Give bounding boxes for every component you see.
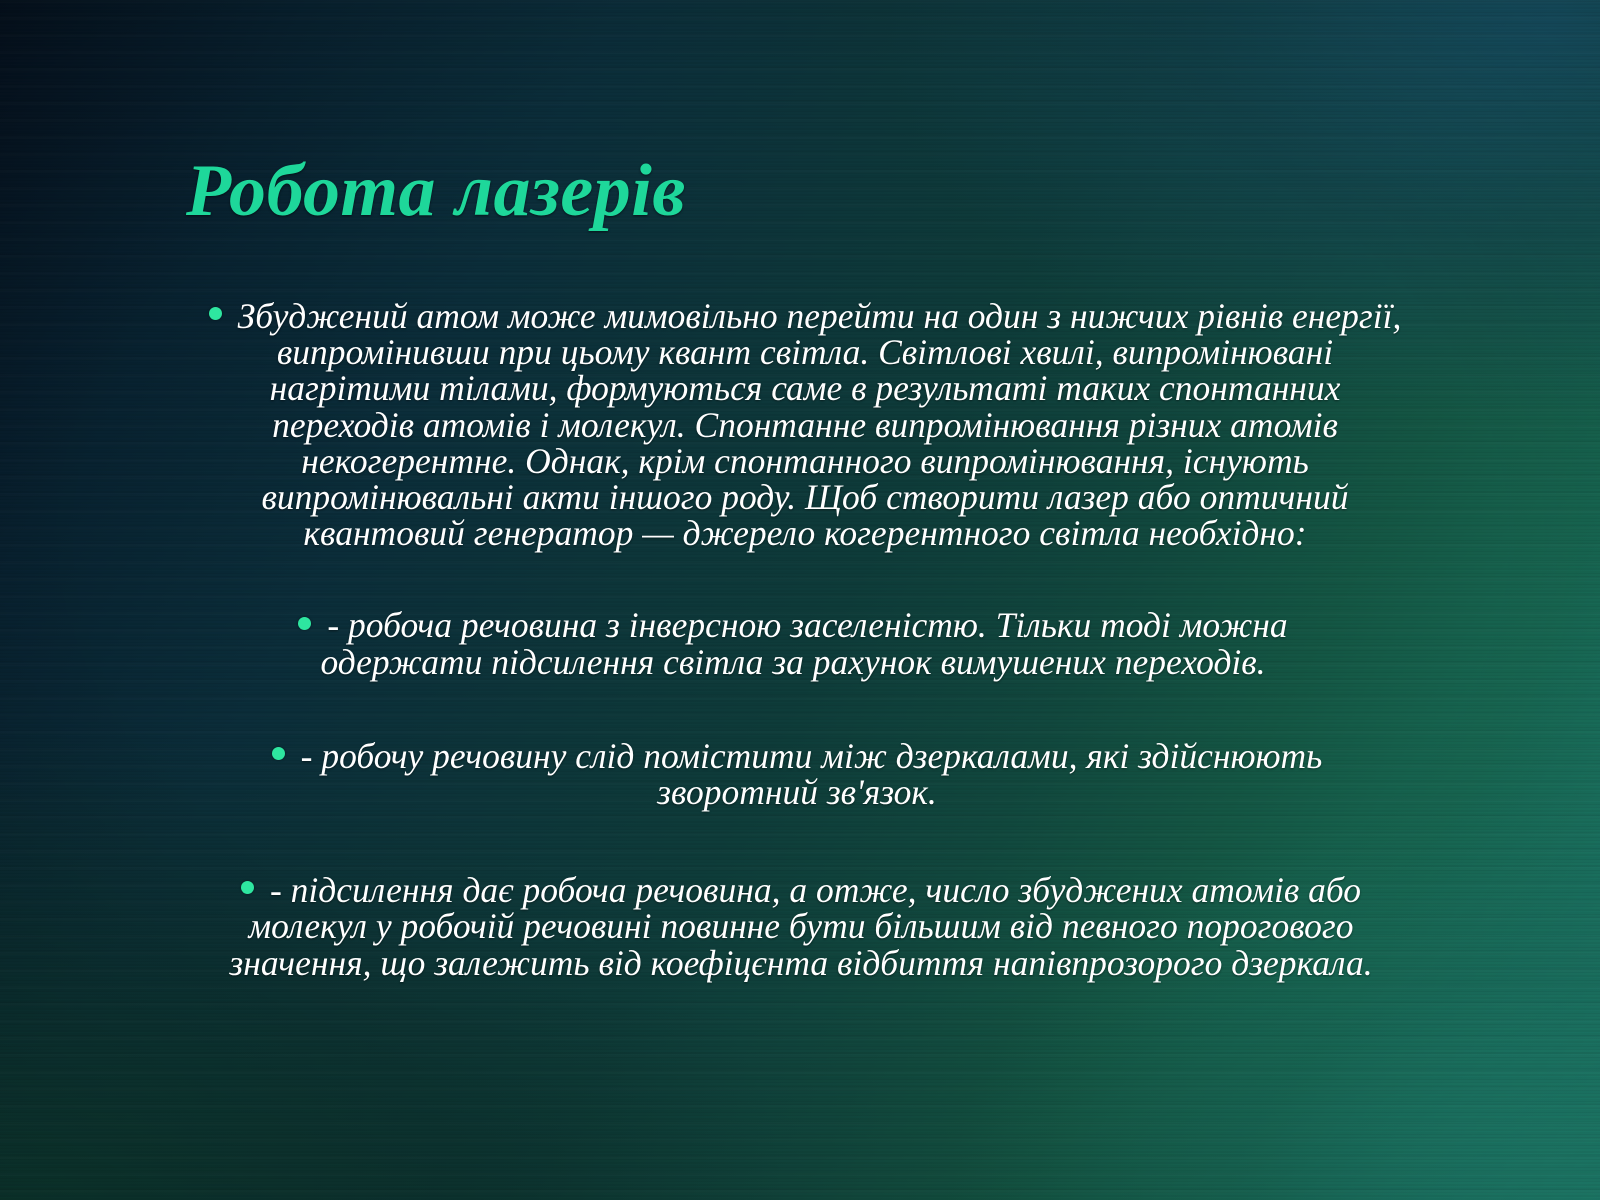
presentation-slide: Робота лазерів Збуджений атом може мимов… [0, 0, 1600, 1200]
bullet-spacer [200, 551, 1410, 607]
bullet-spacer [200, 680, 1410, 738]
bullet-dot-icon [241, 881, 254, 894]
bullet-item-3: - робочу речовину слід помістити між дзе… [212, 738, 1382, 810]
bullet-dot-icon [209, 307, 222, 320]
bullet-dot-icon [298, 617, 311, 630]
bullet-item-1-text: Збуджений атом може мимовільно перейти н… [238, 296, 1402, 553]
bullet-dot-icon [272, 747, 285, 760]
bullet-item-1: Збуджений атом може мимовільно перейти н… [200, 298, 1410, 551]
bullet-item-2: - робоча речовина з інверсною заселеніст… [218, 607, 1368, 679]
slide-title: Робота лазерів [90, 152, 1510, 230]
bullet-item-4: - підсилення дає робоча речовина, а отже… [206, 872, 1396, 981]
bullet-item-4-text: - підсилення дає робоча речовина, а отже… [229, 870, 1372, 982]
bullet-item-3-text: - робочу речовину слід помістити між дзе… [301, 736, 1323, 812]
slide-body-bullet-list: Збуджений атом може мимовільно перейти н… [200, 298, 1410, 981]
bullet-item-2-text: - робоча речовина з інверсною заселеніст… [320, 605, 1287, 681]
slide-content: Робота лазерів Збуджений атом може мимов… [0, 0, 1600, 1200]
bullet-spacer [200, 810, 1410, 872]
